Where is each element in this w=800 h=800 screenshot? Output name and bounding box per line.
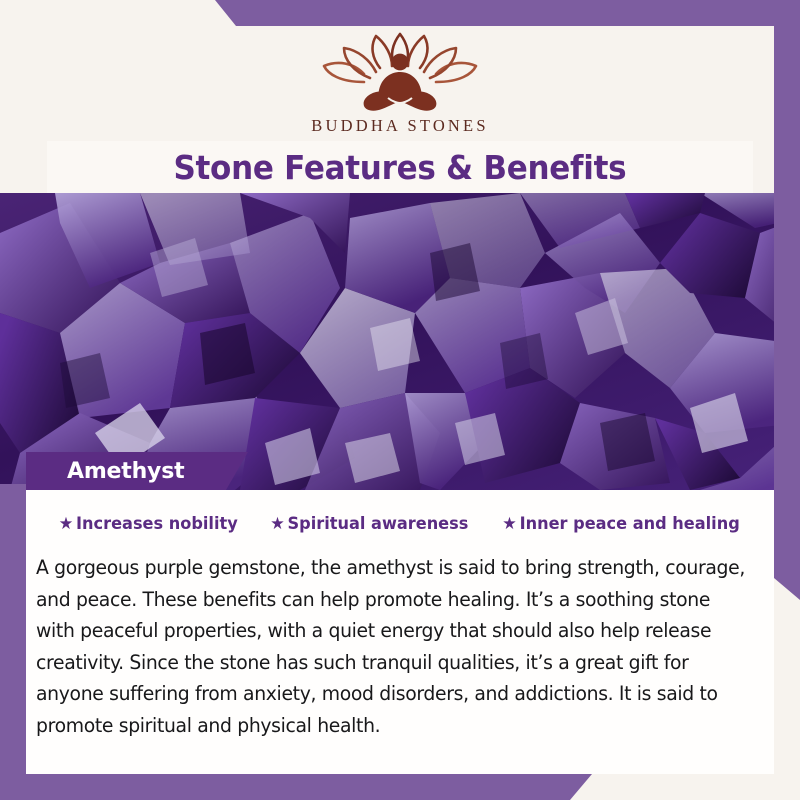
frame-accent-bottom bbox=[0, 774, 800, 800]
stone-info-poster: Amethyst ★ Increases nobility ★ Spiritua… bbox=[0, 0, 800, 800]
lotus-meditation-icon bbox=[318, 30, 482, 112]
stone-name-banner: Amethyst bbox=[26, 452, 248, 490]
star-icon: ★ bbox=[270, 516, 284, 533]
benefit-label: Spiritual awareness bbox=[287, 514, 468, 534]
page-title-band: Stone Features & Benefits bbox=[47, 141, 753, 193]
amethyst-crystal-photo bbox=[0, 193, 800, 490]
frame-accent-right bbox=[774, 0, 800, 600]
benefit-item: ★ Spiritual awareness bbox=[270, 514, 468, 534]
stone-description: A gorgeous purple gemstone, the amethyst… bbox=[36, 552, 746, 741]
frame-accent-left bbox=[0, 484, 26, 800]
frame-accent-top bbox=[0, 0, 800, 26]
stone-name-label: Amethyst bbox=[67, 459, 184, 484]
crystal-cluster-illustration bbox=[0, 193, 800, 490]
benefit-label: Increases nobility bbox=[77, 514, 239, 534]
brand-logo: BUDDHA STONES bbox=[311, 30, 488, 136]
benefits-list: ★ Increases nobility ★ Spiritual awarene… bbox=[26, 514, 774, 534]
star-icon: ★ bbox=[502, 516, 516, 533]
benefit-label: Inner peace and healing bbox=[519, 514, 739, 534]
stone-content-panel: ★ Increases nobility ★ Spiritual awarene… bbox=[26, 490, 774, 774]
benefit-item: ★ Inner peace and healing bbox=[502, 514, 740, 534]
brand-name: BUDDHA STONES bbox=[311, 116, 488, 136]
page-title: Stone Features & Benefits bbox=[174, 148, 627, 187]
star-icon: ★ bbox=[59, 516, 73, 533]
benefit-item: ★ Increases nobility bbox=[59, 514, 238, 534]
